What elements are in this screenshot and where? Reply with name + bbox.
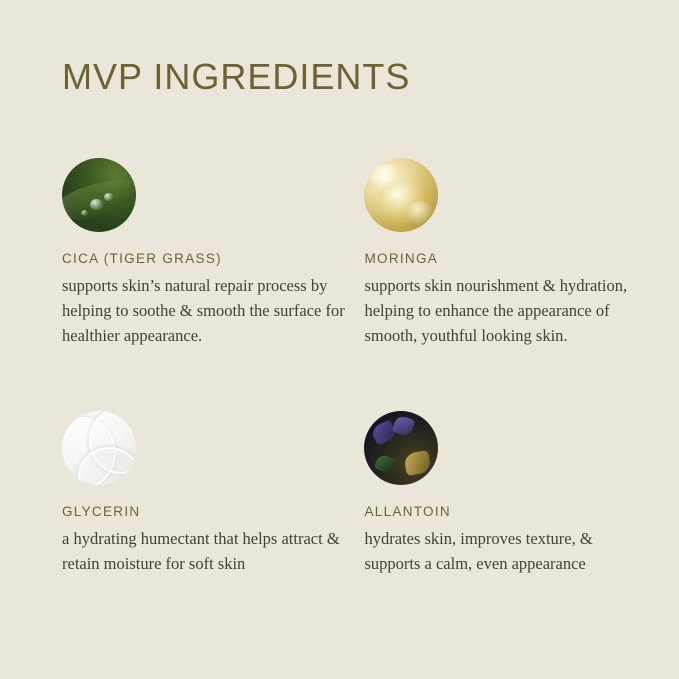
ingredient-card-moringa: MORINGA supports skin nourishment & hydr…	[364, 158, 662, 348]
ingredient-description: a hydrating humectant that helps attract…	[62, 526, 352, 576]
ingredient-card-allantoin: ALLANTOIN hydrates skin, improves textur…	[364, 411, 662, 576]
petal-icon	[374, 453, 398, 475]
ingredient-name: MORINGA	[364, 251, 650, 266]
droplet-icon	[81, 210, 88, 216]
droplet-icon	[90, 199, 103, 210]
oil-bubble-icon	[407, 201, 432, 225]
ingredient-description: supports skin’s natural repair process b…	[62, 273, 352, 348]
row-spacer	[62, 348, 662, 411]
moringa-swatch-image	[364, 158, 438, 232]
glycerin-swatch-image	[62, 411, 136, 485]
ingredients-row-1: CICA (TIGER GRASS) supports skin’s natur…	[62, 158, 662, 348]
ingredient-description: supports skin nourishment & hydration, h…	[364, 273, 650, 348]
allantoin-swatch-image	[364, 411, 438, 485]
ingredient-name: GLYCERIN	[62, 504, 352, 519]
petal-icon	[403, 450, 432, 476]
ingredient-name: ALLANTOIN	[364, 504, 650, 519]
ingredients-page: MVP INGREDIENTS CICA (TIGER GRASS) suppo…	[0, 0, 679, 679]
droplet-icon	[104, 193, 113, 201]
petal-icon	[392, 415, 416, 438]
ingredients-grid: CICA (TIGER GRASS) supports skin’s natur…	[62, 158, 662, 576]
ingredient-card-cica: CICA (TIGER GRASS) supports skin’s natur…	[62, 158, 364, 348]
cica-swatch-image	[62, 158, 136, 232]
ingredient-description: hydrates skin, improves texture, & suppo…	[364, 526, 650, 576]
ingredients-row-2: GLYCERIN a hydrating humectant that help…	[62, 411, 662, 576]
ingredient-card-glycerin: GLYCERIN a hydrating humectant that help…	[62, 411, 364, 576]
ingredient-name: CICA (TIGER GRASS)	[62, 251, 352, 266]
page-title: MVP INGREDIENTS	[62, 56, 410, 98]
